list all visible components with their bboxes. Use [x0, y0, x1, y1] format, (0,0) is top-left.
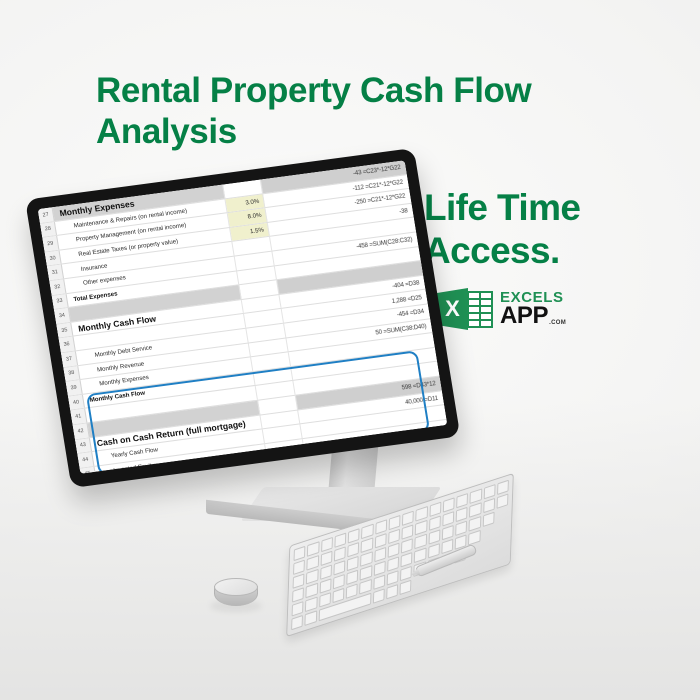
keyboard-key[interactable] [386, 584, 398, 599]
subtitle: Life Time Access. [424, 187, 674, 272]
brand-logo: X EXCELS APP .COM [437, 286, 566, 332]
brand-tld: .COM [549, 320, 566, 326]
keyboard-key[interactable] [400, 580, 412, 595]
monitor: 27Monthly Expenses-43 =C23*-12*G2228Main… [25, 148, 460, 488]
page-title-line2: Analysis [96, 112, 237, 151]
monitor-bezel: 27Monthly Expenses-43 =C23*-12*G2228Main… [25, 148, 460, 488]
keyboard-key[interactable] [291, 615, 303, 630]
promo-graphic: Rental Property Cash Flow Analysis Life … [0, 0, 700, 700]
page-title-line1: Rental Property Cash Flow [96, 71, 531, 110]
subtitle-line1: Life Time [424, 187, 580, 228]
speaker-puck[interactable] [214, 578, 258, 596]
brand-word-bottom-row: APP .COM [500, 305, 566, 328]
keyboard-key[interactable] [305, 610, 317, 625]
keyboard-key[interactable] [372, 588, 384, 603]
excel-icon-grid [467, 291, 493, 328]
subtitle-line2: Access. [424, 230, 560, 271]
brand-word-bottom: APP [500, 305, 548, 328]
excel-icon: X [437, 286, 493, 332]
monitor-screen: 27Monthly Expenses-43 =C23*-12*G2228Main… [38, 160, 448, 474]
brand-logo-text: EXCELS APP .COM [500, 290, 566, 328]
page-title: Rental Property Cash Flow Analysis [96, 70, 616, 153]
spreadsheet[interactable]: 27Monthly Expenses-43 =C23*-12*G2228Main… [38, 160, 448, 474]
monitor-bezel-inner: 27Monthly Expenses-43 =C23*-12*G2228Main… [38, 160, 448, 474]
